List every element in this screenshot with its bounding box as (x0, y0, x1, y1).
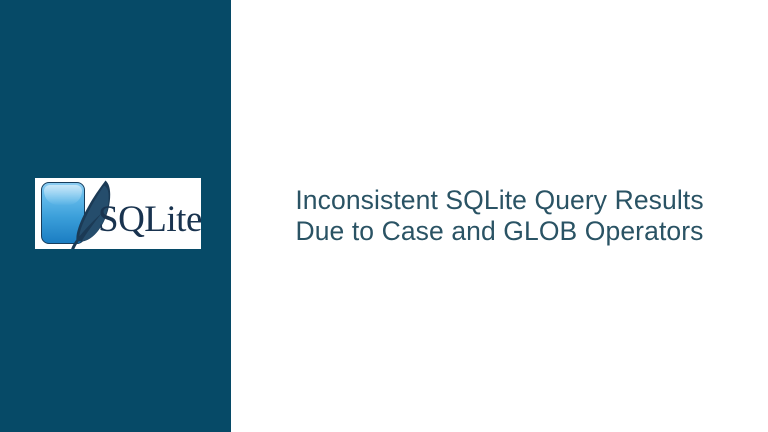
sqlite-logo-inner: SQLite (35, 178, 201, 249)
sqlite-logo: SQLite (35, 178, 201, 249)
sqlite-wordmark: SQLite (98, 198, 201, 246)
page-title-line-1: Inconsistent SQLite Query Results (250, 185, 750, 216)
title-slide: SQLite Inconsistent SQLite Query Results… (0, 0, 768, 432)
title-area: Inconsistent SQLite Query Results Due to… (231, 0, 768, 432)
page-title-line-2: Due to Case and GLOB Operators (250, 216, 750, 247)
page-title: Inconsistent SQLite Query Results Due to… (250, 185, 750, 247)
